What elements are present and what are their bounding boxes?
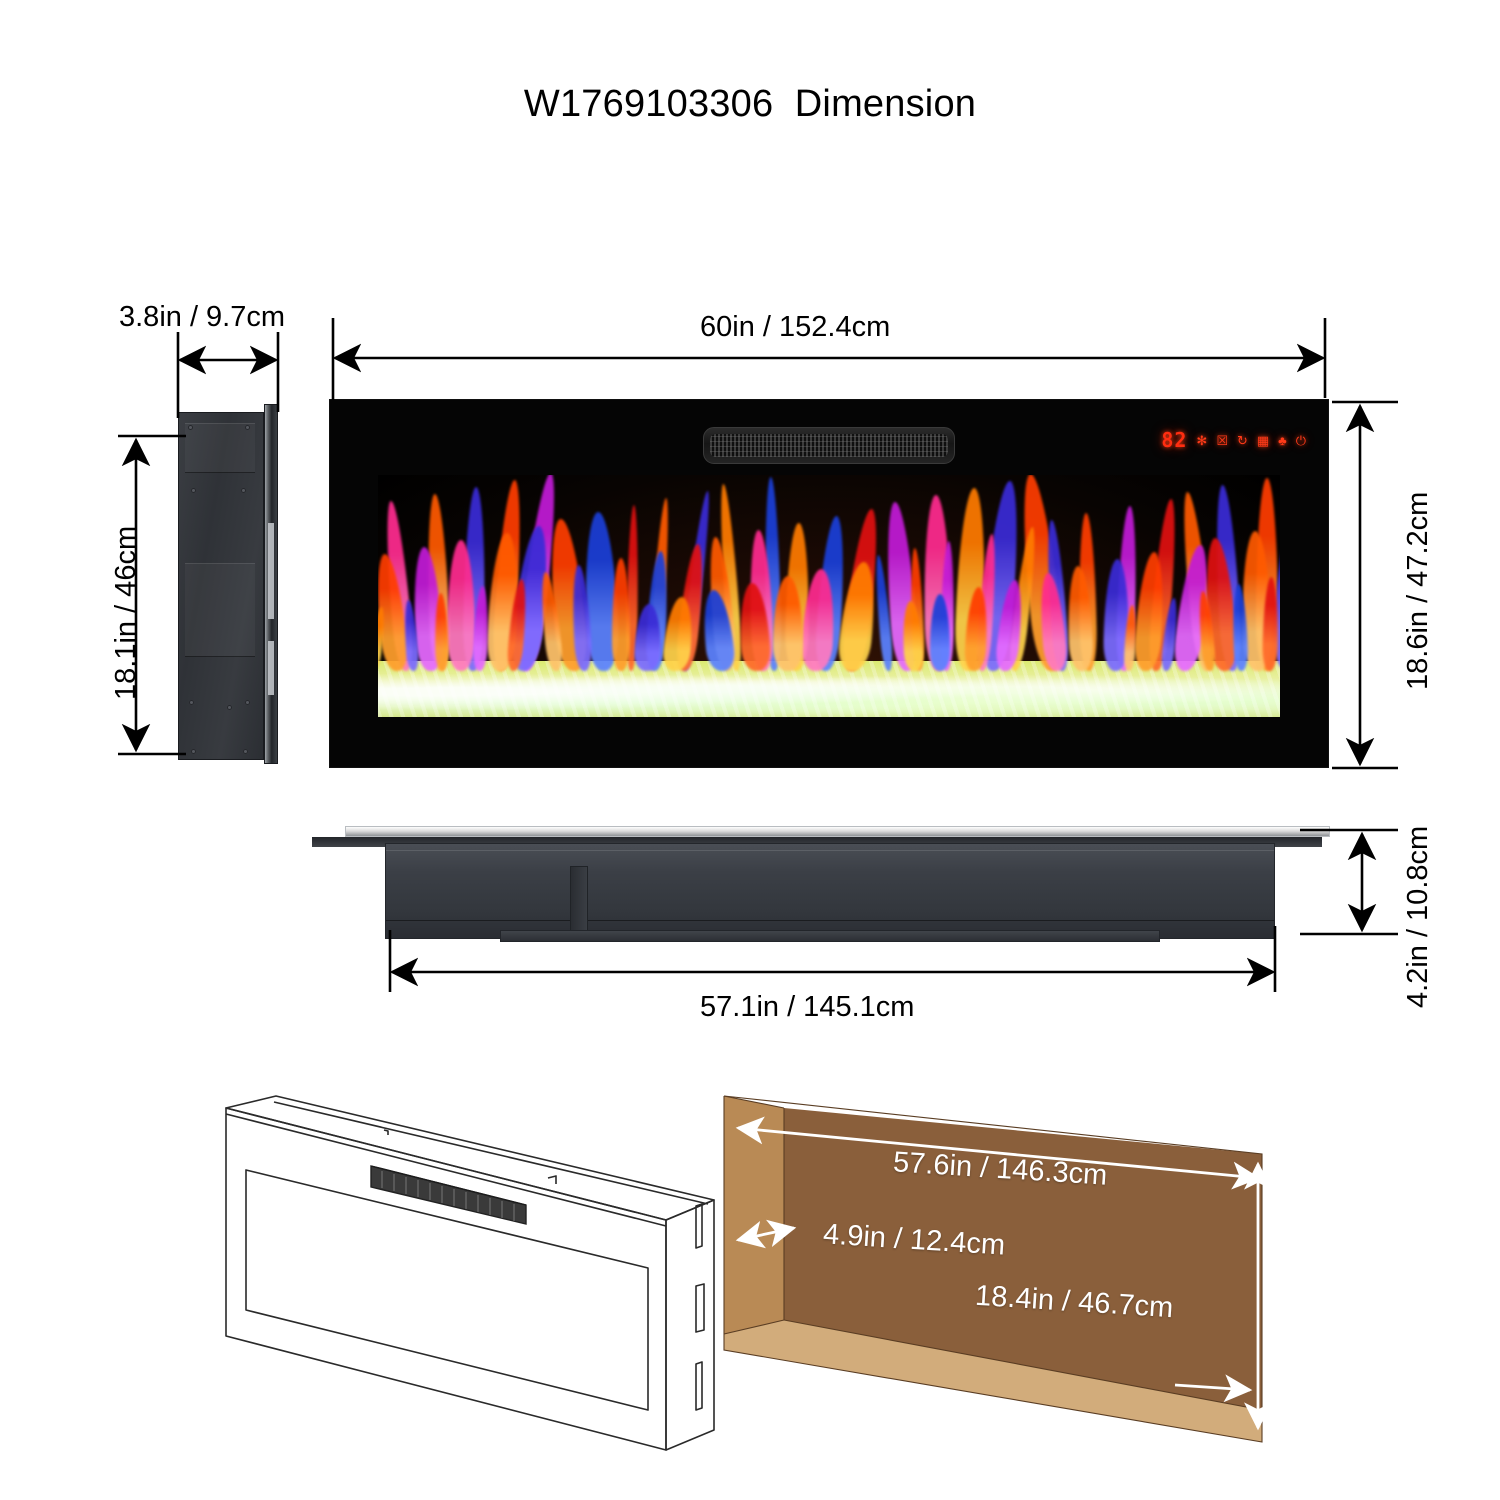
top-view-width-label: 57.1in / 145.1cm <box>700 993 914 1022</box>
dimension-lines <box>0 0 1500 1500</box>
side-view-height-label: 18.1in / 46cm <box>112 526 141 700</box>
top-view-depth-label: 4.2in / 10.8cm <box>1404 826 1433 1008</box>
dimension-sheet: W1769103306 Dimension 82 ✻ ☒ ↻ ▦ ♣ ⏻ <box>0 0 1500 1500</box>
front-view-width-label: 60in / 152.4cm <box>700 313 890 342</box>
front-view-height-label: 18.6in / 47.2cm <box>1404 492 1433 690</box>
side-view-depth-label: 3.8in / 9.7cm <box>119 303 285 332</box>
